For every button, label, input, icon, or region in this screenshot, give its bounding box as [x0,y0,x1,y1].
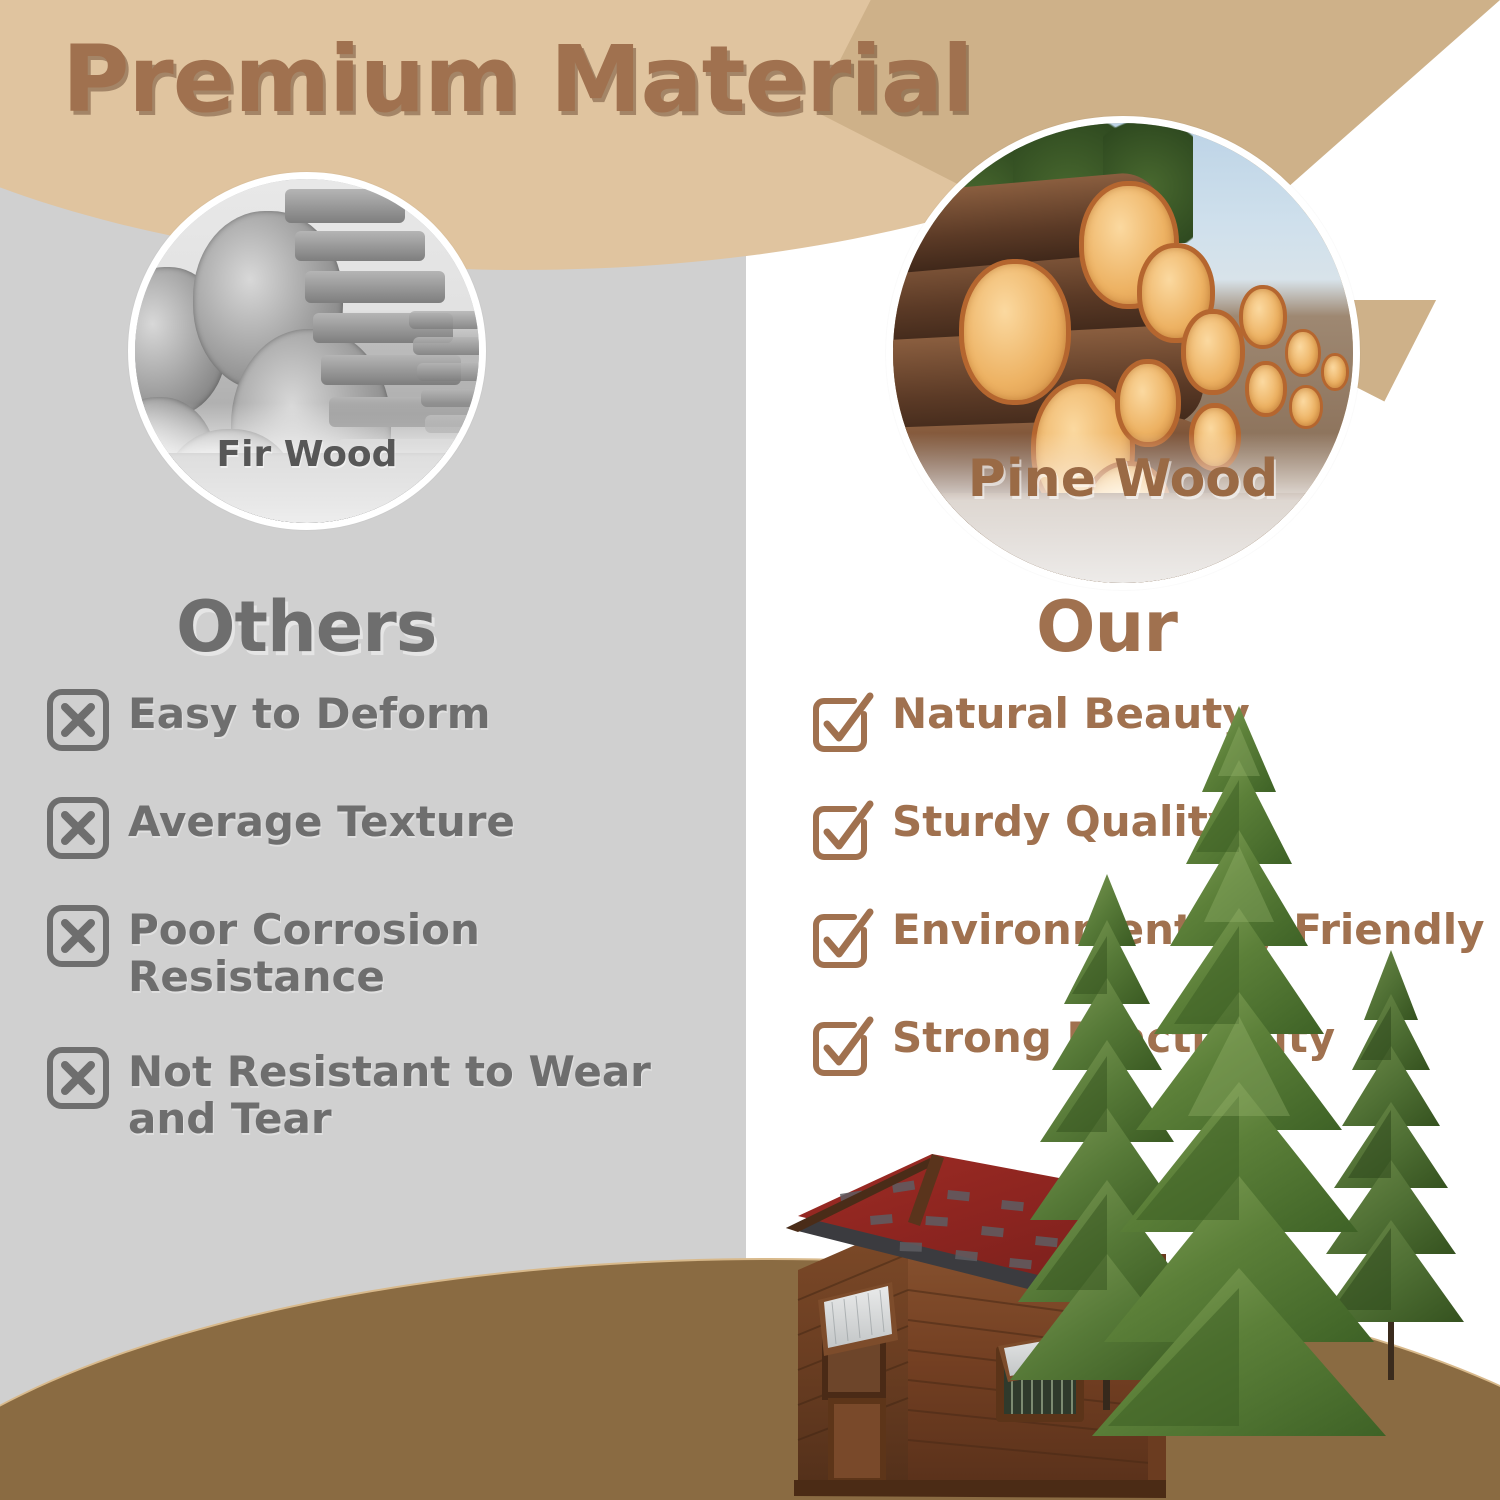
infographic-canvas: Premium Material Fir [0,0,1500,1500]
pine-wood-caption: Pine Wood [893,449,1353,509]
list-item-label: Average Texture [128,798,515,845]
fir-wood-circle: Fir Wood [128,172,486,530]
list-item-label: Poor Corrosion Resistance [128,906,748,1000]
list-item-label: Easy to Deform [128,690,491,737]
check-mark-icon [812,692,870,750]
list-item: Poor Corrosion Resistance [48,906,748,1000]
list-item: Average Texture [48,798,748,858]
x-mark-icon [48,908,106,966]
x-mark-icon [48,800,106,858]
check-mark-icon [812,800,870,858]
page-title: Premium Material [62,26,973,133]
pine-tree-photo [1078,696,1408,1436]
x-mark-icon [48,1050,106,1108]
check-mark-icon [812,908,870,966]
check-mark-icon [812,1016,870,1074]
fir-wood-caption: Fir Wood [135,434,479,475]
list-item-label: Not Resistant to Wear and Tear [128,1048,658,1142]
others-list: Easy to Deform Average Texture Poor Corr… [48,690,748,1142]
others-heading: Others [176,586,436,668]
our-heading: Our [1036,586,1177,668]
list-item: Not Resistant to Wear and Tear [48,1048,748,1142]
pine-wood-circle: Pine Wood [886,116,1360,590]
list-item: Easy to Deform [48,690,748,750]
x-mark-icon [48,692,106,750]
